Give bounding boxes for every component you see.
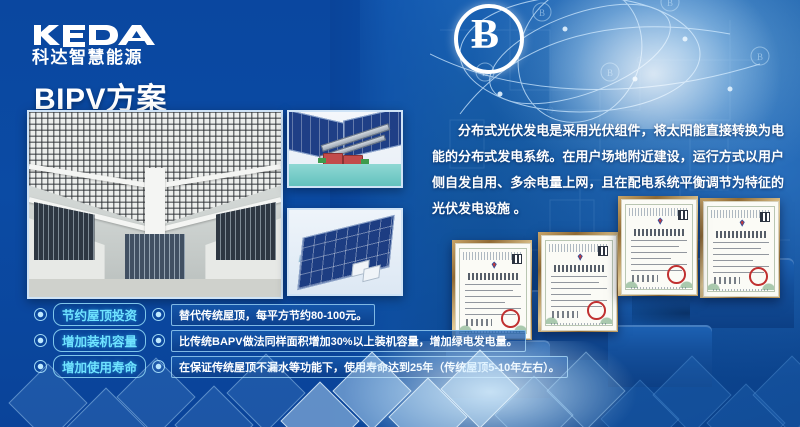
atrium-skylight-photo[interactable] [27, 110, 283, 299]
atrium-floor [29, 279, 281, 298]
bullet-icon [152, 308, 165, 321]
atrium-ridge [145, 168, 165, 238]
qr-code [512, 254, 522, 264]
emblem-icon [489, 260, 499, 270]
bitcoin-symbol: Ƀ [454, 4, 516, 66]
mount-bracket [318, 158, 326, 163]
mount-deck [289, 164, 401, 186]
emblem-icon [575, 252, 585, 262]
atrium-end-glazing [125, 234, 185, 282]
bottom-tile-band [0, 341, 800, 427]
roof-array-diagram[interactable] [287, 208, 403, 296]
emblem-icon [655, 216, 665, 226]
brand-logo-cn: 科达智慧能源 [32, 49, 168, 66]
patent-certificate[interactable] [700, 198, 780, 298]
mounting-detail-diagram[interactable] [287, 110, 403, 188]
bullet-icon [34, 308, 47, 321]
qr-code [760, 212, 770, 222]
qr-code [678, 210, 688, 220]
hero-tech-art: BB BBB Ƀ [430, 0, 800, 129]
hand-silhouette [550, 0, 780, 129]
qr-code [598, 246, 608, 256]
feature-label: 节约屋顶投资 [53, 303, 146, 326]
svg-text:B: B [539, 8, 545, 18]
keda-wordmark [32, 22, 160, 48]
bipv-banner: BB BBB Ƀ 科达智慧能源 BIPV方案 [0, 0, 800, 427]
feature-row[interactable]: 节约屋顶投资 替代传统屋顶，每平方节约80-100元。 [34, 304, 504, 325]
feature-description: 替代传统屋顶，每平方节约80-100元。 [171, 304, 375, 326]
emblem-icon [737, 218, 747, 228]
patent-certificate[interactable] [618, 196, 698, 296]
patent-certificate[interactable] [538, 232, 618, 332]
brand-logo[interactable]: 科达智慧能源 [32, 22, 168, 66]
